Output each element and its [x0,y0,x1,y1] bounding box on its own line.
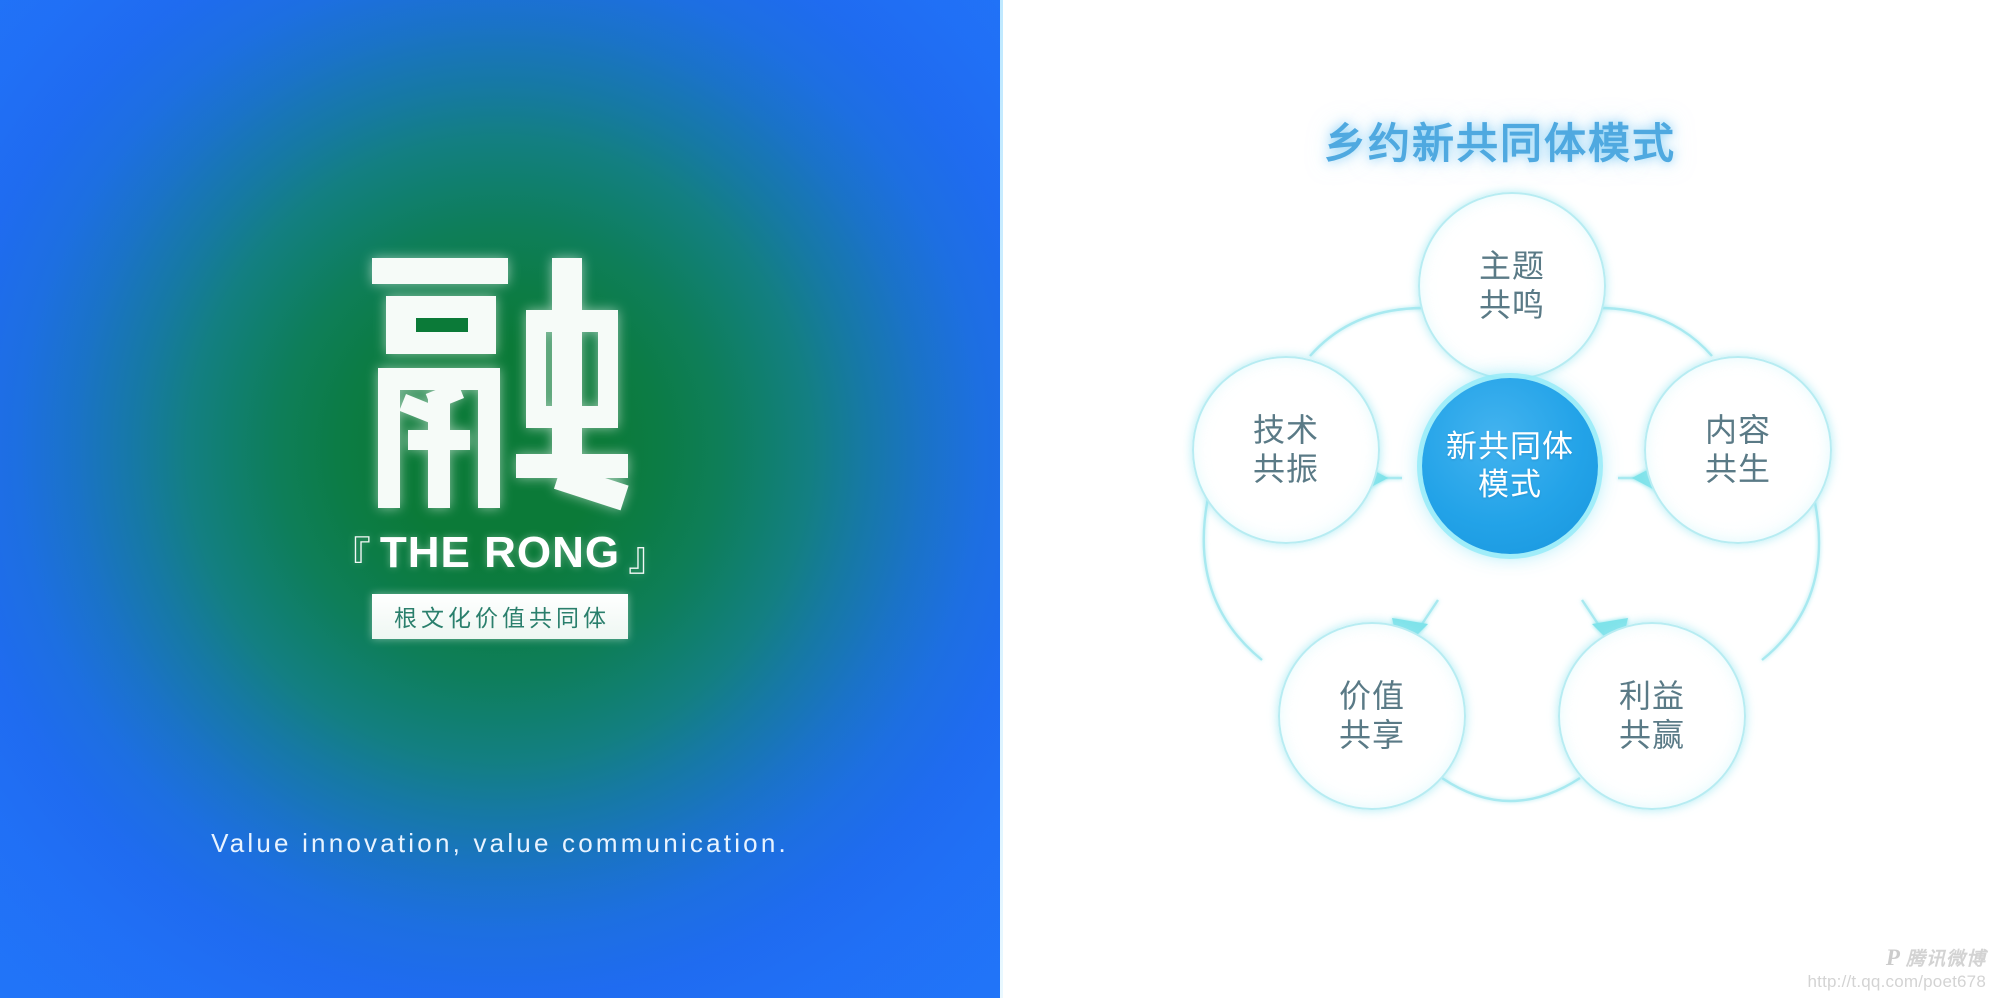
brand-tagline: Value innovation, value communication. [0,828,1000,859]
bracket-close-icon: 』 [628,524,669,582]
left-brand-panel: 『 THE RONG 』 根文化价值共同体 Value innovation, … [0,0,1000,998]
glyph-block [478,368,500,508]
watermark-brand-text: 腾讯微博 [1906,944,1986,971]
glyph-block [552,258,582,476]
diagram-node-top[interactable]: 主题 共鸣 [1418,192,1606,380]
diagram-node-bottom-right[interactable]: 利益 共赢 [1558,622,1746,810]
brand-name-text: THE RONG [380,528,620,578]
right-diagram-panel: 乡约新共同体模式 [1000,0,2000,998]
glyph-block [526,406,618,428]
brand-badge: 根文化价值共同体 [372,594,628,639]
diagram-center-node[interactable]: 新共同体 模式 [1422,378,1598,554]
watermark-brand-row: P 腾讯微博 [1886,944,1986,971]
brand-logo-block: 『 THE RONG 』 根文化价值共同体 [0,258,1000,639]
diagram-node-left[interactable]: 技术 共振 [1192,356,1380,544]
cycle-diagram: 主题 共鸣 内容 共生 利益 共赢 价值 共享 技术 共振 新共同体 模式 [1150,160,1870,880]
slide-root: 『 THE RONG 』 根文化价值共同体 Value innovation, … [0,0,2000,998]
diagram-node-bottom-left[interactable]: 价值 共享 [1278,622,1466,810]
watermark-url: http://t.qq.com/poet678 [1808,972,1987,992]
diagram-node-right[interactable]: 内容 共生 [1644,356,1832,544]
rong-character-icon [366,258,634,508]
tencent-weibo-logo-icon: P [1886,945,1900,971]
brand-english-name: 『 THE RONG 』 [331,524,669,582]
glyph-block [372,258,508,284]
glyph-block [378,368,400,508]
watermark: P 腾讯微博 http://t.qq.com/poet678 [1808,944,1987,992]
glyph-block [416,318,468,332]
bracket-open-icon: 『 [331,524,372,582]
glyph-block [428,398,450,508]
